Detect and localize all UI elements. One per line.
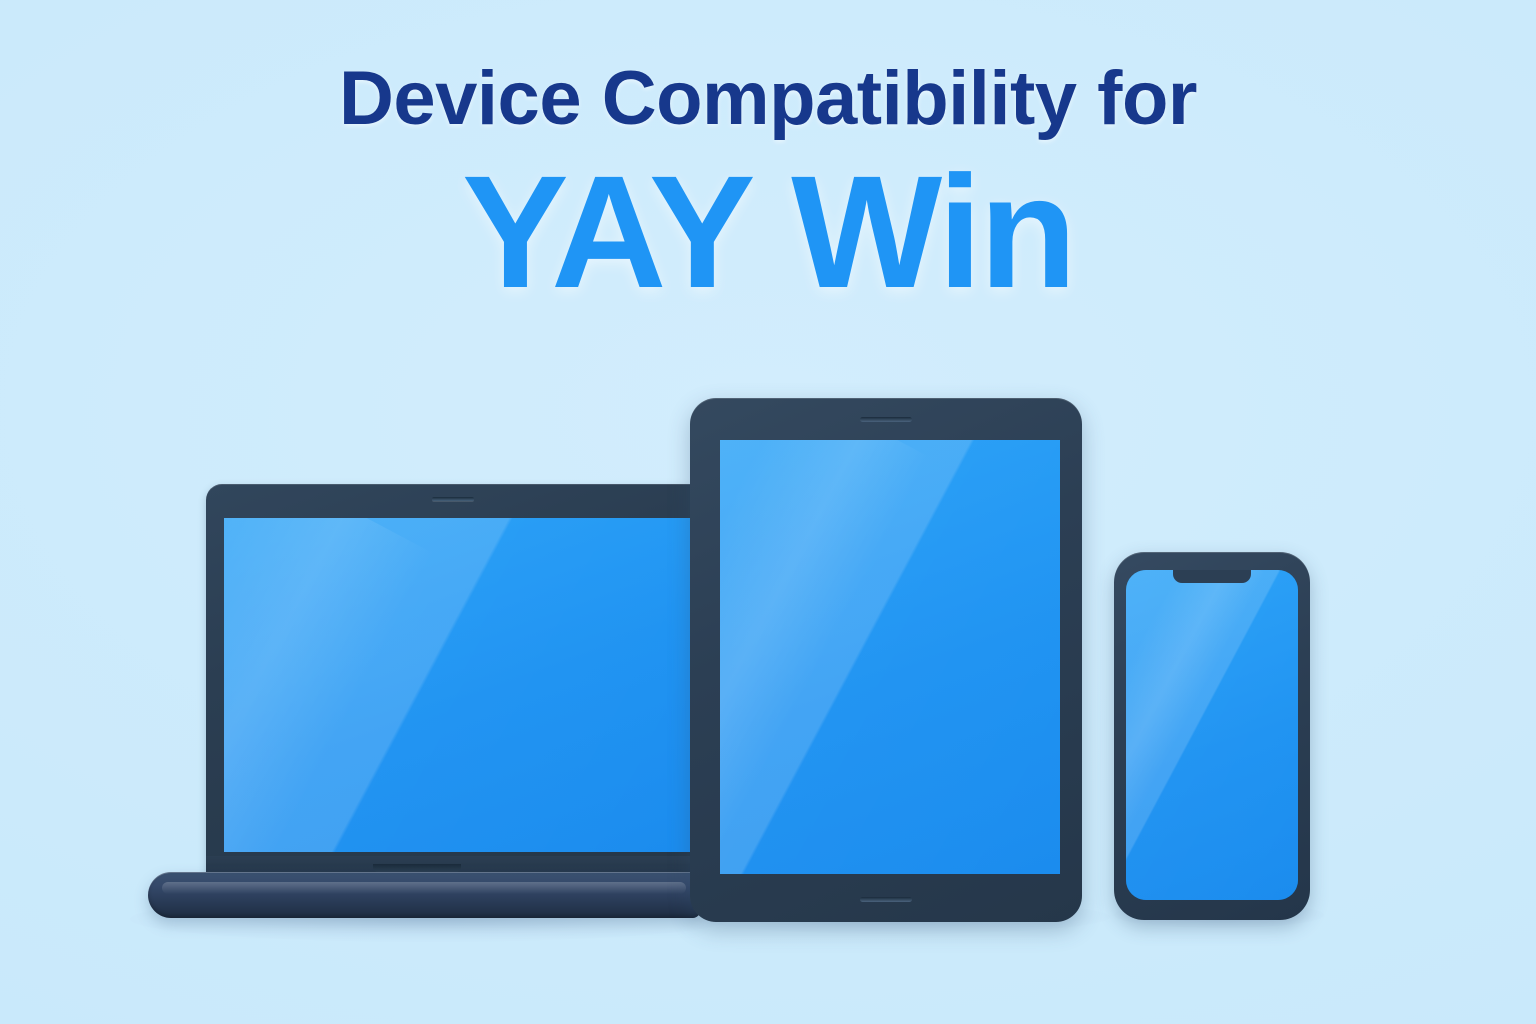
speaker-slit-icon-top <box>860 417 912 422</box>
headline-line-accent: YAY Win <box>0 152 1536 312</box>
tablet-frame <box>690 398 1082 922</box>
tablet-screen-fill <box>720 440 1060 874</box>
device-compatibility-banner: Device Compatibility for YAY Win <box>0 0 1536 1024</box>
laptop-device-illustration <box>148 484 700 929</box>
tablet-screen[interactable] <box>720 440 1060 874</box>
laptop-screen-fill <box>224 518 694 852</box>
phone-notch-icon <box>1173 570 1251 583</box>
headline-line-primary: Device Compatibility for <box>0 60 1536 138</box>
phone-screen-fill <box>1126 570 1298 900</box>
laptop-base-highlight <box>162 882 686 894</box>
webcam-icon <box>432 497 474 501</box>
speaker-slit-icon-bottom <box>860 897 912 902</box>
headline-block: Device Compatibility for YAY Win <box>0 60 1536 312</box>
laptop-base <box>148 872 700 918</box>
phone-device-illustration <box>1114 552 1310 920</box>
phone-screen[interactable] <box>1126 570 1298 900</box>
tablet-device-illustration <box>690 398 1082 922</box>
laptop-screen[interactable] <box>224 518 694 852</box>
laptop-lid <box>206 484 700 878</box>
laptop-trackpad-notch <box>373 864 461 872</box>
phone-frame <box>1114 552 1310 920</box>
